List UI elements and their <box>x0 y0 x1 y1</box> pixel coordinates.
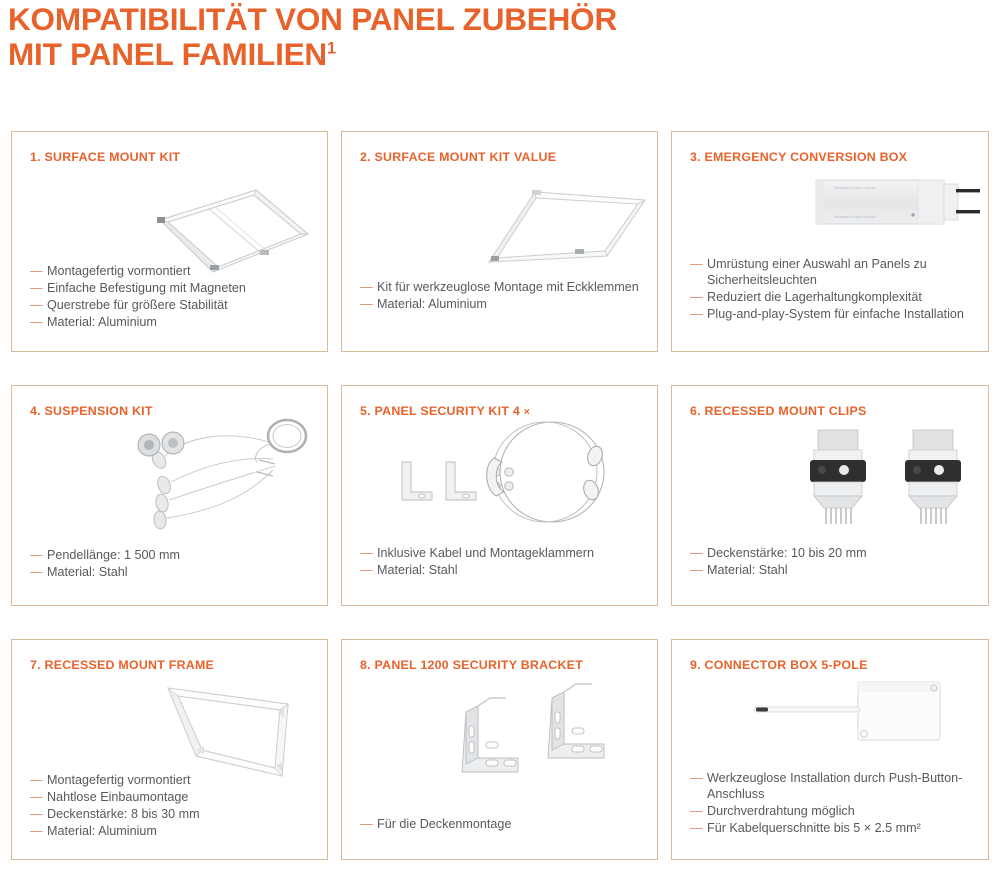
list-item: —Pendellänge: 1 500 mm <box>30 547 315 564</box>
page-title-line-1: KOMPATIBILITÄT VON PANEL ZUBEHÖR <box>8 2 968 37</box>
bullet-dash-icon: — <box>690 545 703 562</box>
list-item: —Durchverdrahtung möglich <box>690 803 976 820</box>
bullet-dash-icon: — <box>690 770 703 787</box>
bullet-dash-icon: — <box>30 772 43 789</box>
card-bullets-7: —Montagefertig vormontiert —Nahtlose Ein… <box>30 772 315 840</box>
bullet-dash-icon: — <box>30 280 43 297</box>
list-item: —Werkzeuglose Installation durch Push-Bu… <box>690 770 976 803</box>
list-item: —Material: Aluminium <box>360 296 645 313</box>
card-title-2: 2. SURFACE MOUNT KIT VALUE <box>360 150 647 164</box>
bullet-dash-icon: — <box>690 306 703 323</box>
page-title-footnote-marker: 1 <box>327 40 336 58</box>
list-item: —Material: Aluminium <box>30 823 315 840</box>
list-item: —Reduziert die Lagerhaltungkomplexität <box>690 289 976 306</box>
bullet-dash-icon: — <box>360 816 373 833</box>
accessory-card-2[interactable]: 2. SURFACE MOUNT KIT VALUE —Kit für werk… <box>341 131 658 352</box>
bullet-dash-icon: — <box>690 256 703 273</box>
card-bullets-5: —Inklusive Kabel und Montageklammern —Ma… <box>360 545 645 579</box>
card-title-9: 9. CONNECTOR BOX 5-POLE <box>690 658 978 672</box>
list-item: —Deckenstärke: 8 bis 30 mm <box>30 806 315 823</box>
list-item: —Für Kabelquerschnitte bis 5 × 2.5 mm² <box>690 820 976 837</box>
bullet-dash-icon: — <box>30 547 43 564</box>
bullet-dash-icon: — <box>30 564 43 581</box>
emergency-conversion-box-icon: Emergency light module Emergency light m… <box>812 168 982 240</box>
page-title-line-2-text: MIT PANEL FAMILIEN <box>8 36 327 72</box>
card-title-5-text: 5. PANEL SECURITY KIT 4 <box>360 404 520 418</box>
list-item: —Material: Stahl <box>360 562 645 579</box>
bullet-dash-icon: — <box>30 806 43 823</box>
accessory-card-1[interactable]: 1. SURFACE MOUNT KIT —Montagefertig <box>11 131 328 352</box>
list-item: —Plug-and-play-System für einfache Insta… <box>690 306 976 323</box>
bullet-dash-icon: — <box>360 296 373 313</box>
list-item: —Querstrebe für größere Stabilität <box>30 297 315 314</box>
card-title-3: 3. EMERGENCY CONVERSION BOX <box>690 150 978 164</box>
list-item: —Einfache Befestigung mit Magneten <box>30 280 315 297</box>
bullet-dash-icon: — <box>30 823 43 840</box>
bullet-dash-icon: — <box>360 545 373 562</box>
list-item: —Umrüstung einer Auswahl an Panels zu Si… <box>690 256 976 289</box>
recessed-mount-frame-icon <box>160 680 315 785</box>
connector-box-5-pole-icon <box>730 676 945 761</box>
card-bullets-4: —Pendellänge: 1 500 mm —Material: Stahl <box>30 547 315 581</box>
surface-mount-kit-value-frame-icon <box>457 174 647 284</box>
accessory-card-3[interactable]: 3. EMERGENCY CONVERSION BOX Emergenc <box>671 131 989 352</box>
list-item: —Montagefertig vormontiert <box>30 772 315 789</box>
list-item: —Für die Deckenmontage <box>360 816 645 833</box>
card-bullets-1: —Montagefertig vormontiert —Einfache Bef… <box>30 263 315 331</box>
card-bullets-6: —Deckenstärke: 10 bis 20 mm —Material: S… <box>690 545 976 579</box>
suspension-kit-cables-icon <box>107 414 317 534</box>
bullet-dash-icon: — <box>360 562 373 579</box>
bullet-dash-icon: — <box>360 279 373 296</box>
bullet-dash-icon: — <box>30 789 43 806</box>
card-bullets-9: —Werkzeuglose Installation durch Push-Bu… <box>690 770 976 838</box>
accessory-card-grid: 1. SURFACE MOUNT KIT —Montagefertig <box>11 131 990 860</box>
bullet-dash-icon: — <box>30 314 43 331</box>
accessory-card-6[interactable]: 6. RECESSED MOUNT CLIPS <box>671 385 989 606</box>
panel-1200-security-brackets-icon <box>434 682 614 792</box>
card-title-5: 5. PANEL SECURITY KIT 4 × <box>360 404 647 419</box>
page-title: KOMPATIBILITÄT VON PANEL ZUBEHÖR MIT PAN… <box>8 2 968 72</box>
svg-text:Emergency light module: Emergency light module <box>834 215 876 219</box>
card-title-4: 4. SUSPENSION KIT <box>30 404 317 418</box>
list-item: —Nahtlose Einbaumontage <box>30 789 315 806</box>
bullet-dash-icon: — <box>690 803 703 820</box>
list-item: —Inklusive Kabel und Montageklammern <box>360 545 645 562</box>
list-item: —Material: Stahl <box>30 564 315 581</box>
bullet-dash-icon: — <box>690 562 703 579</box>
page-title-line-2: MIT PANEL FAMILIEN1 <box>8 37 968 72</box>
card-bullets-2: —Kit für werkzeuglose Montage mit Eckkle… <box>360 279 645 313</box>
list-item: —Material: Aluminium <box>30 314 315 331</box>
card-title-1: 1. SURFACE MOUNT KIT <box>30 150 317 164</box>
card-title-8: 8. PANEL 1200 SECURITY BRACKET <box>360 658 647 672</box>
accessory-card-7[interactable]: 7. RECESSED MOUNT FRAME —Montagefe <box>11 639 328 860</box>
card-title-7: 7. RECESSED MOUNT FRAME <box>30 658 317 672</box>
list-item: —Kit für werkzeuglose Montage mit Eckkle… <box>360 279 645 296</box>
svg-text:Emergency light module: Emergency light module <box>834 186 876 190</box>
multiplier-symbol: × <box>524 406 530 418</box>
panel-security-kit-cable-coil-icon <box>384 414 614 534</box>
accessory-card-8[interactable]: 8. PANEL 1200 SECURITY BRACKET <box>341 639 658 860</box>
accessory-card-9[interactable]: 9. CONNECTOR BOX 5-POLE —Werkzeuglose In… <box>671 639 989 860</box>
bullet-dash-icon: — <box>690 289 703 306</box>
bullet-dash-icon: — <box>690 820 703 837</box>
bullet-dash-icon: — <box>30 263 43 280</box>
list-item: —Deckenstärke: 10 bis 20 mm <box>690 545 976 562</box>
card-bullets-8: —Für die Deckenmontage <box>360 816 645 833</box>
bullet-dash-icon: — <box>30 297 43 314</box>
list-item: —Montagefertig vormontiert <box>30 263 315 280</box>
accessory-card-5[interactable]: 5. PANEL SECURITY KIT 4 × <box>341 385 658 606</box>
card-bullets-3: —Umrüstung einer Auswahl an Panels zu Si… <box>690 256 976 324</box>
card-title-6: 6. RECESSED MOUNT CLIPS <box>690 404 978 418</box>
list-item: —Material: Stahl <box>690 562 976 579</box>
recessed-mount-clips-icon <box>790 426 970 531</box>
accessory-card-4[interactable]: 4. SUSPENSION KIT <box>11 385 328 606</box>
